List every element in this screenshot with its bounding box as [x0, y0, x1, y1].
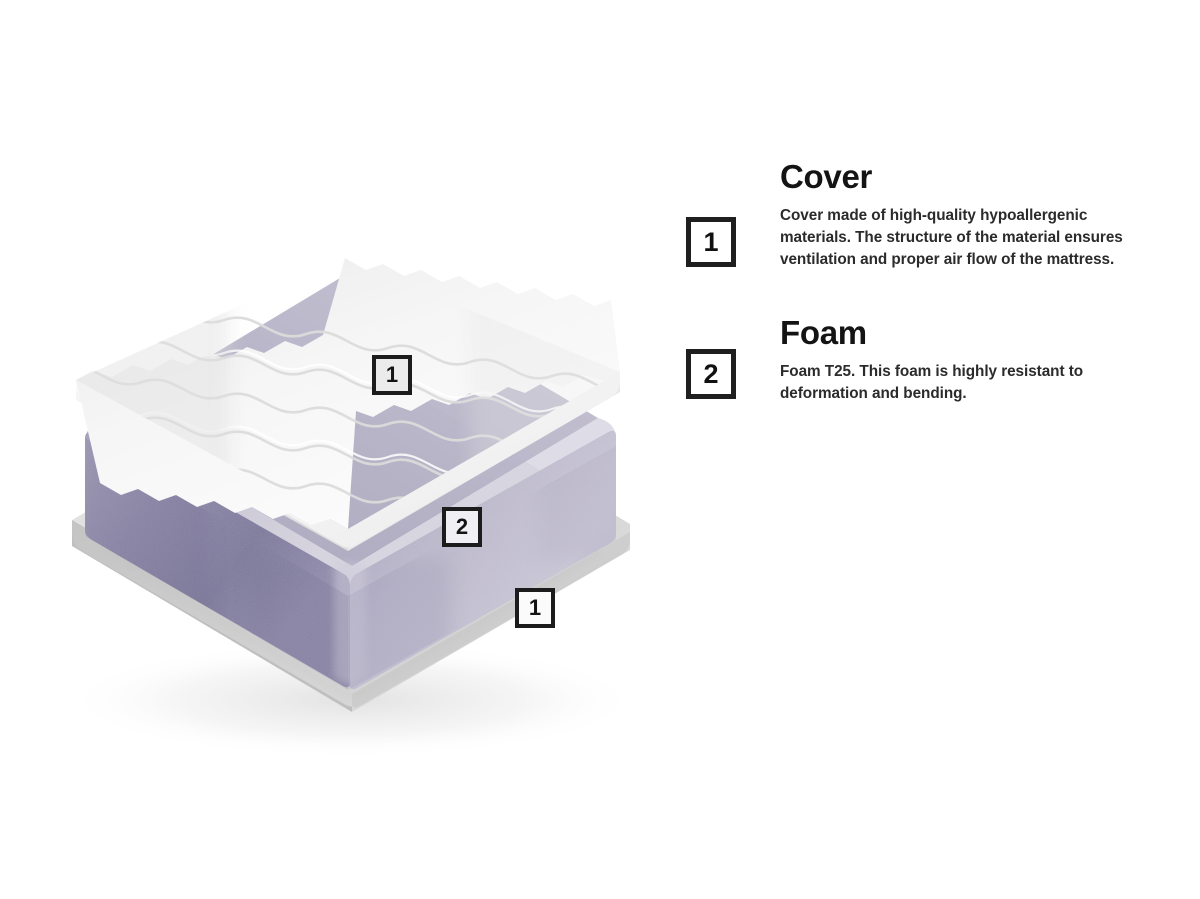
- legend-body-foam: Foam Foam T25. This foam is highly resis…: [780, 316, 1152, 405]
- mattress-illustration: 1 2 1: [0, 0, 700, 899]
- legend-title-cover: Cover: [780, 160, 1152, 193]
- infographic-canvas: 1 2 1 1 Cover Cover made of high-quality…: [0, 0, 1200, 899]
- legend-text-foam: Foam T25. This foam is highly resistant …: [780, 361, 1152, 405]
- legend-item-foam[interactable]: 2 Foam Foam T25. This foam is highly res…: [686, 316, 1152, 405]
- legend-number-1: 1: [686, 217, 736, 267]
- legend-title-foam: Foam: [780, 316, 1152, 349]
- mattress-exploded-diagram: [0, 0, 700, 899]
- legend-body-cover: Cover Cover made of high-quality hypoall…: [780, 160, 1152, 271]
- marker-foam-side[interactable]: 2: [442, 507, 482, 547]
- legend-number-2: 2: [686, 349, 736, 399]
- legend-text-cover: Cover made of high-quality hypoallergeni…: [780, 205, 1152, 271]
- marker-cover-top[interactable]: 1: [372, 355, 412, 395]
- marker-cover-base[interactable]: 1: [515, 588, 555, 628]
- legend-item-cover[interactable]: 1 Cover Cover made of high-quality hypoa…: [686, 160, 1152, 271]
